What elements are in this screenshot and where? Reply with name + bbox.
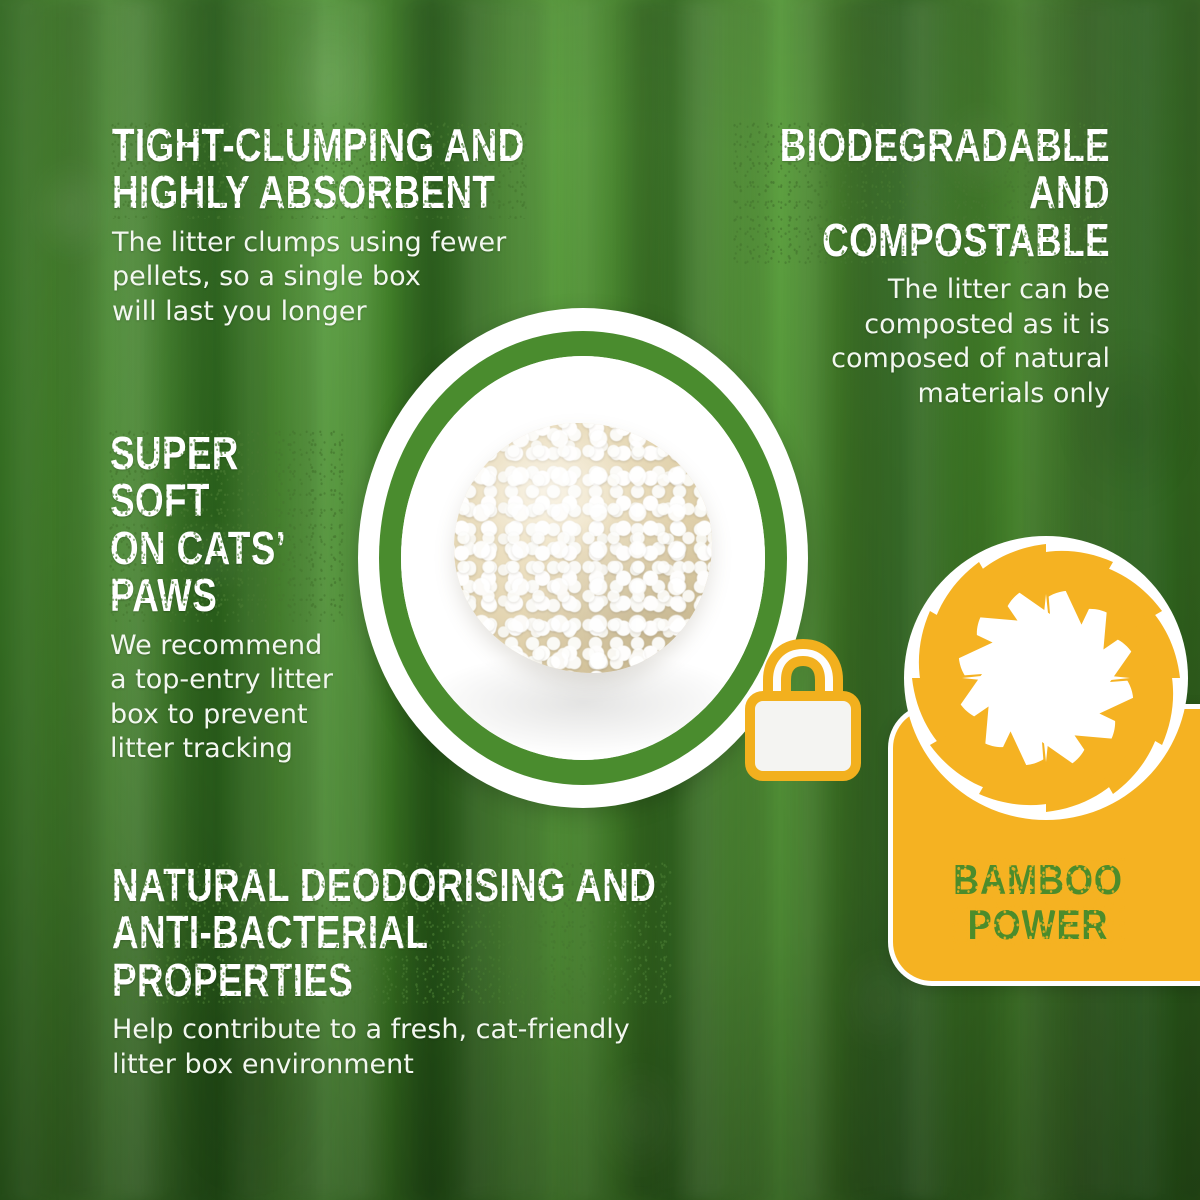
infographic-canvas: BAMBOO POWER TIGHT-CLUMPING AND HIGHLY A… <box>0 0 1200 1200</box>
feature-biodegradable-body: The litter can be composted as it is com… <box>640 273 1110 411</box>
feature-deodorising-headline-text: NATURAL DEODORISING AND ANTI-BACTERIAL P… <box>112 862 672 1004</box>
feature-super-soft-body: We recommend a top-entry litter box to p… <box>110 629 400 767</box>
lock-icon <box>742 634 864 784</box>
feature-clumping-headline-text: TIGHT-CLUMPING AND HIGHLY ABSORBENT <box>112 122 525 217</box>
feature-clumping: TIGHT-CLUMPING AND HIGHLY ABSORBENT The … <box>112 122 652 329</box>
bamboo-power-badge: BAMBOO POWER <box>884 528 1200 990</box>
feature-biodegradable-headline: BIODEGRADABLE AND COMPOSTABLE <box>734 122 1110 264</box>
feature-deodorising-headline: NATURAL DEODORISING AND ANTI-BACTERIAL P… <box>112 862 672 1004</box>
feature-super-soft-headline-text: SUPER SOFT ON CATS’ PAWS <box>110 430 342 620</box>
feature-deodorising-body: Help contribute to a fresh, cat-friendly… <box>112 1013 812 1082</box>
badge-label-text: BAMBOO POWER <box>953 858 1123 948</box>
clump-highlight <box>454 423 712 673</box>
feature-biodegradable-headline-text: BIODEGRADABLE AND COMPOSTABLE <box>734 122 1110 264</box>
medallion-inner-disc <box>401 356 765 760</box>
badge-label: BAMBOO POWER <box>909 858 1167 948</box>
feature-deodorising: NATURAL DEODORISING AND ANTI-BACTERIAL P… <box>112 862 812 1082</box>
feature-super-soft-headline: SUPER SOFT ON CATS’ PAWS <box>110 430 342 620</box>
radiating-arrows-starburst-icon <box>896 528 1196 828</box>
feature-super-soft: SUPER SOFT ON CATS’ PAWS We recommend a … <box>110 430 400 767</box>
feature-biodegradable: BIODEGRADABLE AND COMPOSTABLE The litter… <box>640 122 1110 411</box>
litter-clump-body <box>454 423 712 673</box>
bamboo-litter-clump-photo <box>401 356 765 760</box>
feature-clumping-body: The litter clumps using fewer pellets, s… <box>112 226 652 330</box>
feature-clumping-headline: TIGHT-CLUMPING AND HIGHLY ABSORBENT <box>112 122 544 217</box>
